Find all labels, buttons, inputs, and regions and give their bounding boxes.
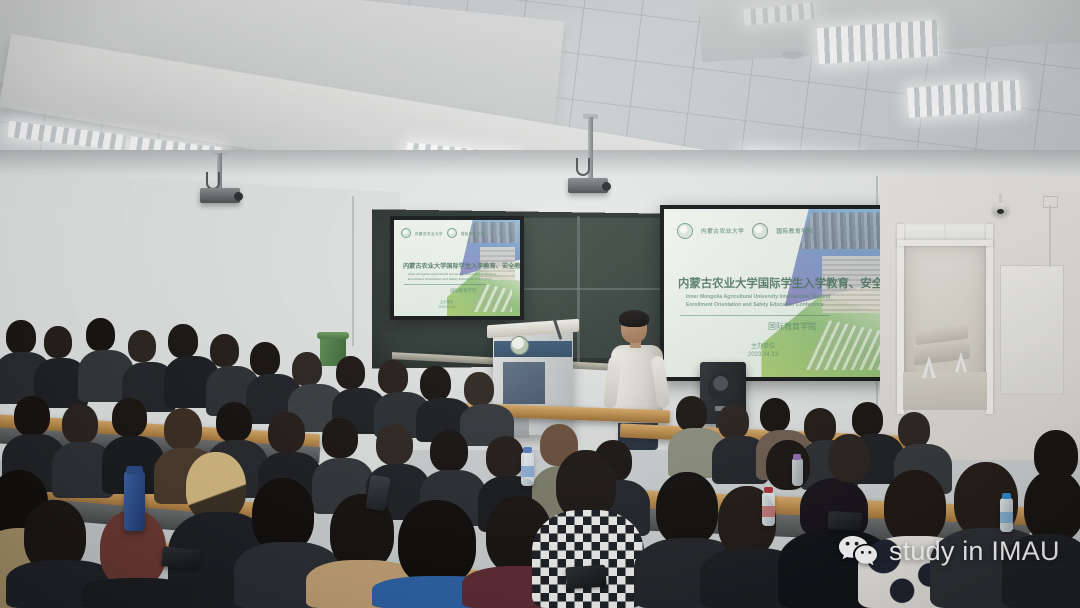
audience-head bbox=[464, 372, 494, 406]
watermark-text: study in IMAU bbox=[889, 536, 1060, 567]
slide-logo-row: 内蒙古农业大学 国际教育学院 bbox=[677, 223, 814, 239]
bottle-cap bbox=[764, 487, 773, 493]
audience-head bbox=[376, 424, 413, 465]
audience-head bbox=[718, 404, 749, 439]
camera-lens bbox=[997, 209, 1004, 214]
slide-footer-line2: 2023.04.13 bbox=[748, 351, 778, 359]
main-projection-screen: 内蒙古农业大学 国际教育学院 内蒙古农业大学国际学生入学教育、安全教育大会 In… bbox=[660, 205, 900, 381]
wall-control-panel[interactable] bbox=[1000, 265, 1064, 395]
slide-logo-row: 内蒙古农业大学 国际教育学院 bbox=[401, 228, 485, 238]
audience-head bbox=[884, 470, 946, 544]
audience-head bbox=[112, 398, 147, 437]
lecture-hall-photograph: 内蒙古农业大学 国际教育学院 内蒙古农业大学国际学生入学教育、安全教育大会 In… bbox=[0, 0, 1080, 608]
bottle-label bbox=[521, 466, 534, 477]
secondary-slide: 内蒙古农业大学 国际教育学院 内蒙古农业大学国际学生入学教育、安全教育大会 In… bbox=[394, 220, 520, 316]
audience-head bbox=[128, 330, 156, 362]
audience-head bbox=[168, 324, 198, 358]
university-emblem-icon bbox=[510, 336, 529, 355]
main-slide: 内蒙古农业大学 国际教育学院 内蒙古农业大学国际学生入学教育、安全教育大会 In… bbox=[664, 209, 896, 377]
slide-divider-rule bbox=[680, 315, 830, 316]
flask-cap bbox=[126, 466, 143, 474]
audience-head bbox=[252, 478, 314, 552]
slide-footer-line2: 2023.04.13 bbox=[438, 305, 455, 310]
slide-subtitle-en-2: Enrollment Orientation and Safety Educat… bbox=[408, 277, 492, 281]
bottle-label bbox=[762, 506, 775, 517]
watermark: study in IMAU bbox=[838, 534, 1060, 568]
bottle-cap bbox=[523, 447, 532, 453]
audience-head bbox=[760, 398, 790, 432]
audience-head bbox=[1034, 430, 1078, 480]
slide-footer-text: 主办单位 2023.04.13 bbox=[438, 300, 455, 309]
water-flask bbox=[124, 471, 145, 531]
corridor-floor bbox=[903, 372, 987, 410]
audience-head bbox=[164, 408, 202, 450]
projector-lens bbox=[234, 192, 243, 201]
slide-footer-text: 主办单位 2023.04.13 bbox=[748, 343, 778, 359]
audience-head bbox=[852, 402, 883, 437]
audience-head bbox=[62, 404, 98, 444]
ceiling-smoke-detector bbox=[781, 51, 803, 59]
slide-subtitle-en-1: Inner Mongolia Agricultural University I… bbox=[686, 294, 830, 300]
audience-head bbox=[6, 320, 36, 354]
slide-footer-line1: 主办单位 bbox=[748, 343, 778, 351]
slide-logo-left-text: 内蒙古农业大学 bbox=[415, 231, 443, 236]
audience-head bbox=[44, 326, 72, 358]
audience-head bbox=[398, 500, 476, 586]
bottle-cap bbox=[793, 454, 801, 460]
presenter-hair bbox=[619, 310, 649, 327]
audience-head bbox=[250, 342, 280, 376]
audience-head bbox=[676, 396, 707, 431]
audience-head bbox=[804, 408, 836, 444]
slide-logo-right-text: 国际教育学院 bbox=[461, 231, 485, 236]
college-seal-icon bbox=[447, 228, 457, 238]
college-seal-icon bbox=[752, 223, 768, 239]
bottle-label bbox=[1000, 512, 1013, 523]
slide-department-cn: 国际教育学院 bbox=[450, 288, 476, 294]
audience-head bbox=[656, 472, 718, 546]
water-bottle bbox=[792, 458, 803, 486]
slide-footer-line1: 主办单位 bbox=[438, 300, 455, 305]
audience-head bbox=[322, 418, 358, 458]
audience-head bbox=[86, 318, 115, 351]
audience-head bbox=[336, 356, 365, 389]
slide-logo-right-text: 国际教育学院 bbox=[776, 227, 813, 235]
audience-head bbox=[766, 440, 810, 490]
door-jamb-right bbox=[986, 224, 993, 414]
audience-head bbox=[486, 436, 524, 478]
audience-head bbox=[828, 434, 870, 482]
slide-divider-rule bbox=[404, 284, 486, 285]
audience-head bbox=[210, 334, 239, 367]
audience-head bbox=[378, 360, 408, 394]
projector-cable bbox=[576, 158, 590, 176]
slide-logo-left-text: 内蒙古农业大学 bbox=[701, 227, 744, 235]
audience-torso-plaid bbox=[532, 510, 644, 608]
lectern-band bbox=[494, 341, 572, 357]
slide-title-cn: 内蒙古农业大学国际学生入学教育、安全教育大会 bbox=[678, 275, 896, 291]
smartphone[interactable] bbox=[565, 565, 606, 590]
speaker-cone bbox=[708, 372, 738, 402]
audience-head bbox=[430, 430, 468, 472]
lectern-panel bbox=[503, 362, 545, 404]
slide-subtitle-en-2: Enrollment Orientation and Safety Educat… bbox=[686, 302, 824, 308]
smartphone[interactable] bbox=[161, 546, 201, 570]
university-seal-icon bbox=[677, 223, 693, 239]
wechat-icon bbox=[838, 534, 878, 568]
audience-head bbox=[268, 412, 305, 453]
audience-head bbox=[216, 402, 252, 442]
audience-head bbox=[14, 396, 50, 436]
audience-head bbox=[898, 412, 930, 448]
door-head bbox=[897, 240, 993, 246]
slide-title-cn: 内蒙古农业大学国际学生入学教育、安全教育大会 bbox=[403, 261, 520, 270]
audience-head bbox=[420, 366, 451, 401]
camera-cable bbox=[1049, 205, 1051, 267]
bottle-cap bbox=[1002, 493, 1011, 499]
projector-lens bbox=[602, 182, 611, 191]
waste-bin-lid bbox=[317, 332, 349, 339]
slide-subtitle-en-1: Inner Mongolia Agricultural University I… bbox=[408, 272, 496, 276]
wall-ceiling-shadow bbox=[0, 150, 1080, 176]
university-seal-icon bbox=[401, 228, 411, 238]
audience-torso bbox=[82, 578, 194, 608]
audience-head bbox=[1024, 470, 1080, 542]
smartphone[interactable] bbox=[828, 511, 863, 531]
wall-seam bbox=[352, 196, 354, 346]
secondary-projection-screen: 内蒙古农业大学 国际教育学院 内蒙古农业大学国际学生入学教育、安全教育大会 In… bbox=[390, 216, 524, 320]
slide-department-cn: 国际教育学院 bbox=[768, 321, 816, 332]
